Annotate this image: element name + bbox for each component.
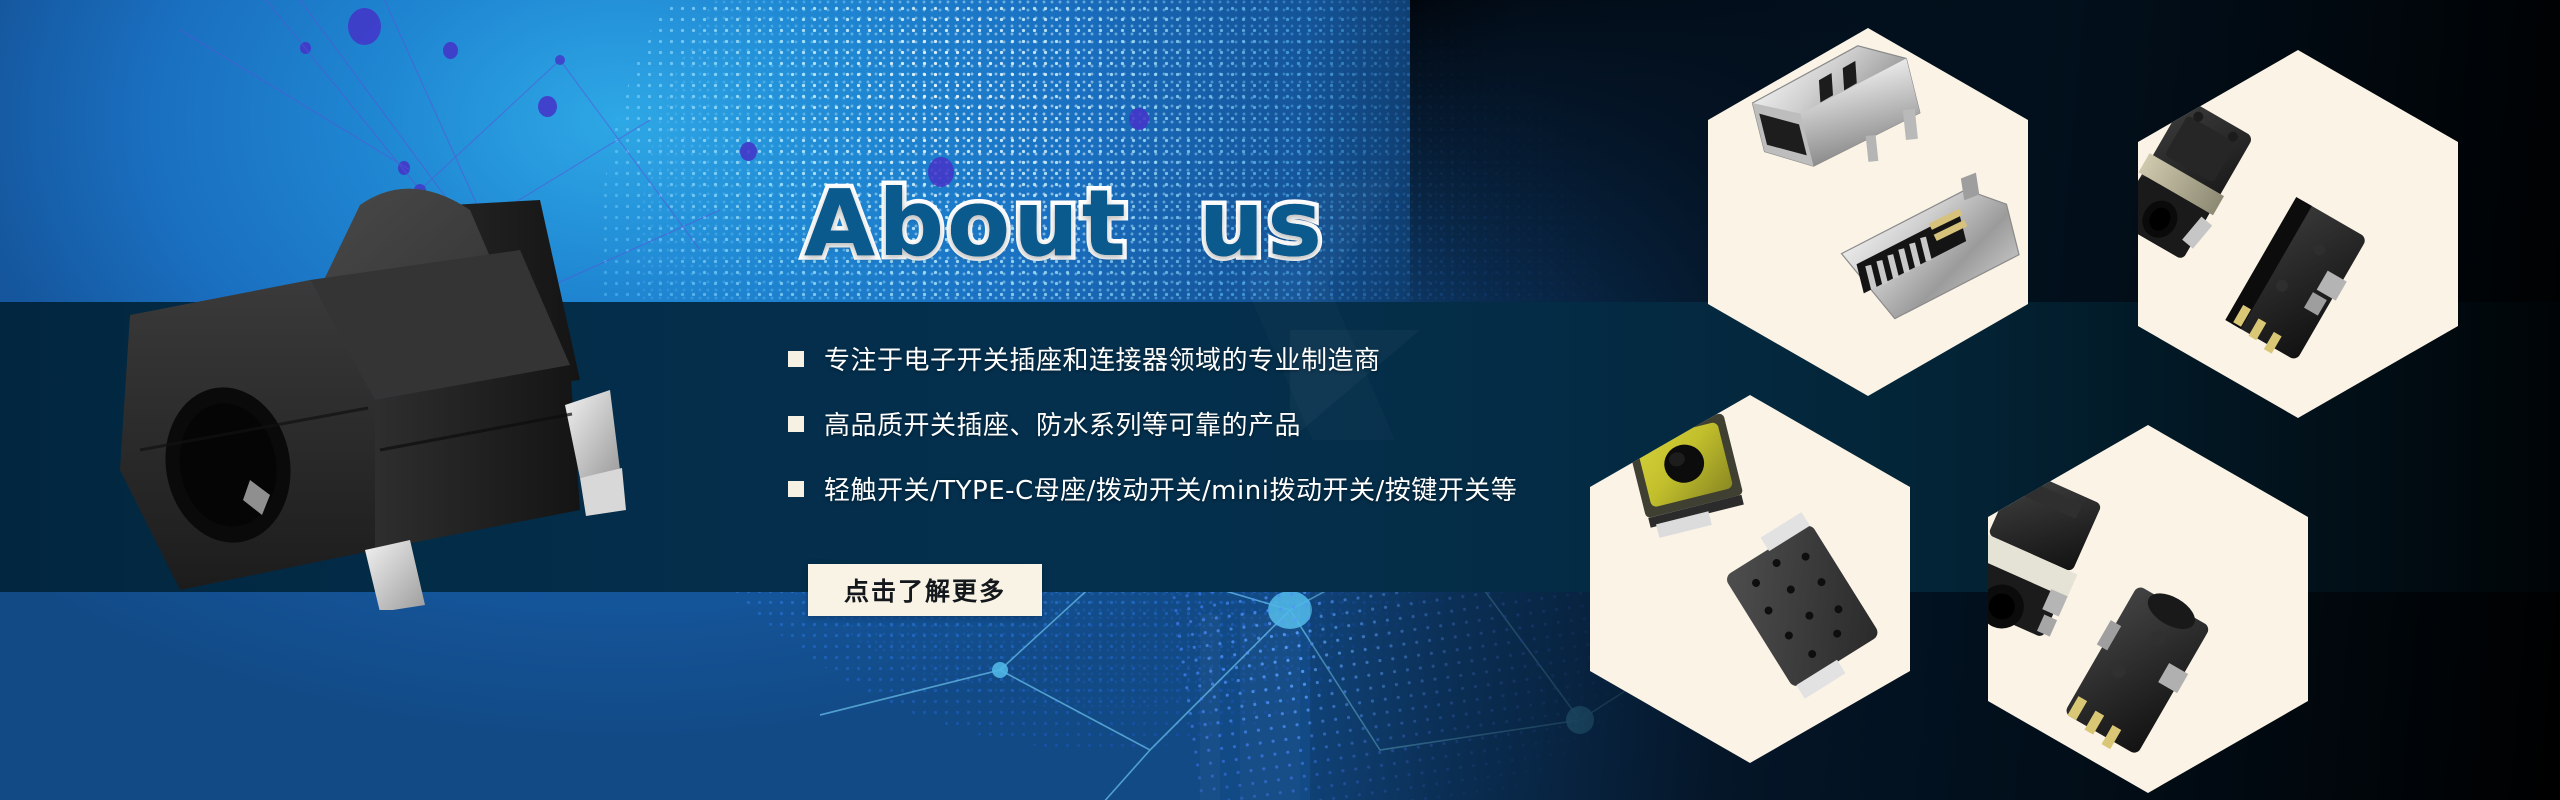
band-accent-bar	[1200, 614, 1220, 800]
product-hex-grid	[1530, 0, 2560, 800]
list-item: 轻触开关/TYPE-C母座/拨动开关/mini拨动开关/按键开关等	[788, 470, 1517, 507]
dc-power-jack-connector	[110, 150, 670, 610]
accent-dot	[1129, 108, 1149, 130]
audio-jack-connector-pair	[1988, 425, 2308, 793]
band-accent-bar-wide	[1240, 614, 1300, 800]
tactile-switch-smd-pair	[1590, 395, 1910, 763]
square-bullet-icon	[788, 416, 804, 432]
list-item: 高品质开关插座、防水系列等可靠的产品	[788, 405, 1517, 442]
accent-dot	[740, 142, 757, 161]
product-hex-audio-jack[interactable]	[1988, 425, 2308, 793]
feature-list: 专注于电子开关插座和连接器领域的专业制造商 高品质开关插座、防水系列等可靠的产品…	[788, 340, 1517, 535]
list-item-label: 专注于电子开关插座和连接器领域的专业制造商	[824, 340, 1381, 377]
product-hex-usb-type-c[interactable]	[1708, 28, 2028, 396]
square-bullet-icon	[788, 481, 804, 497]
square-bullet-icon	[788, 351, 804, 367]
list-item-label: 轻触开关/TYPE-C母座/拨动开关/mini拨动开关/按键开关等	[824, 470, 1517, 507]
list-item: 专注于电子开关插座和连接器领域的专业制造商	[788, 340, 1517, 377]
usb-type-c-connector-pair	[1708, 28, 2028, 396]
page-title: About us	[804, 178, 1325, 270]
accent-dot	[443, 42, 458, 59]
about-us-banner: About us About us 专注于电子开关插座和连接器领域的专业制造商 …	[0, 0, 2560, 800]
black-dc-jack-connector-pair	[2138, 50, 2458, 418]
product-hex-tactile-switch[interactable]	[1590, 395, 1910, 763]
product-hex-dc-jack[interactable]	[2138, 50, 2458, 418]
list-item-label: 高品质开关插座、防水系列等可靠的产品	[824, 405, 1301, 442]
accent-dot	[538, 96, 557, 117]
accent-dot	[348, 8, 381, 45]
learn-more-button[interactable]: 点击了解更多	[808, 564, 1042, 616]
accent-dot	[300, 42, 311, 54]
